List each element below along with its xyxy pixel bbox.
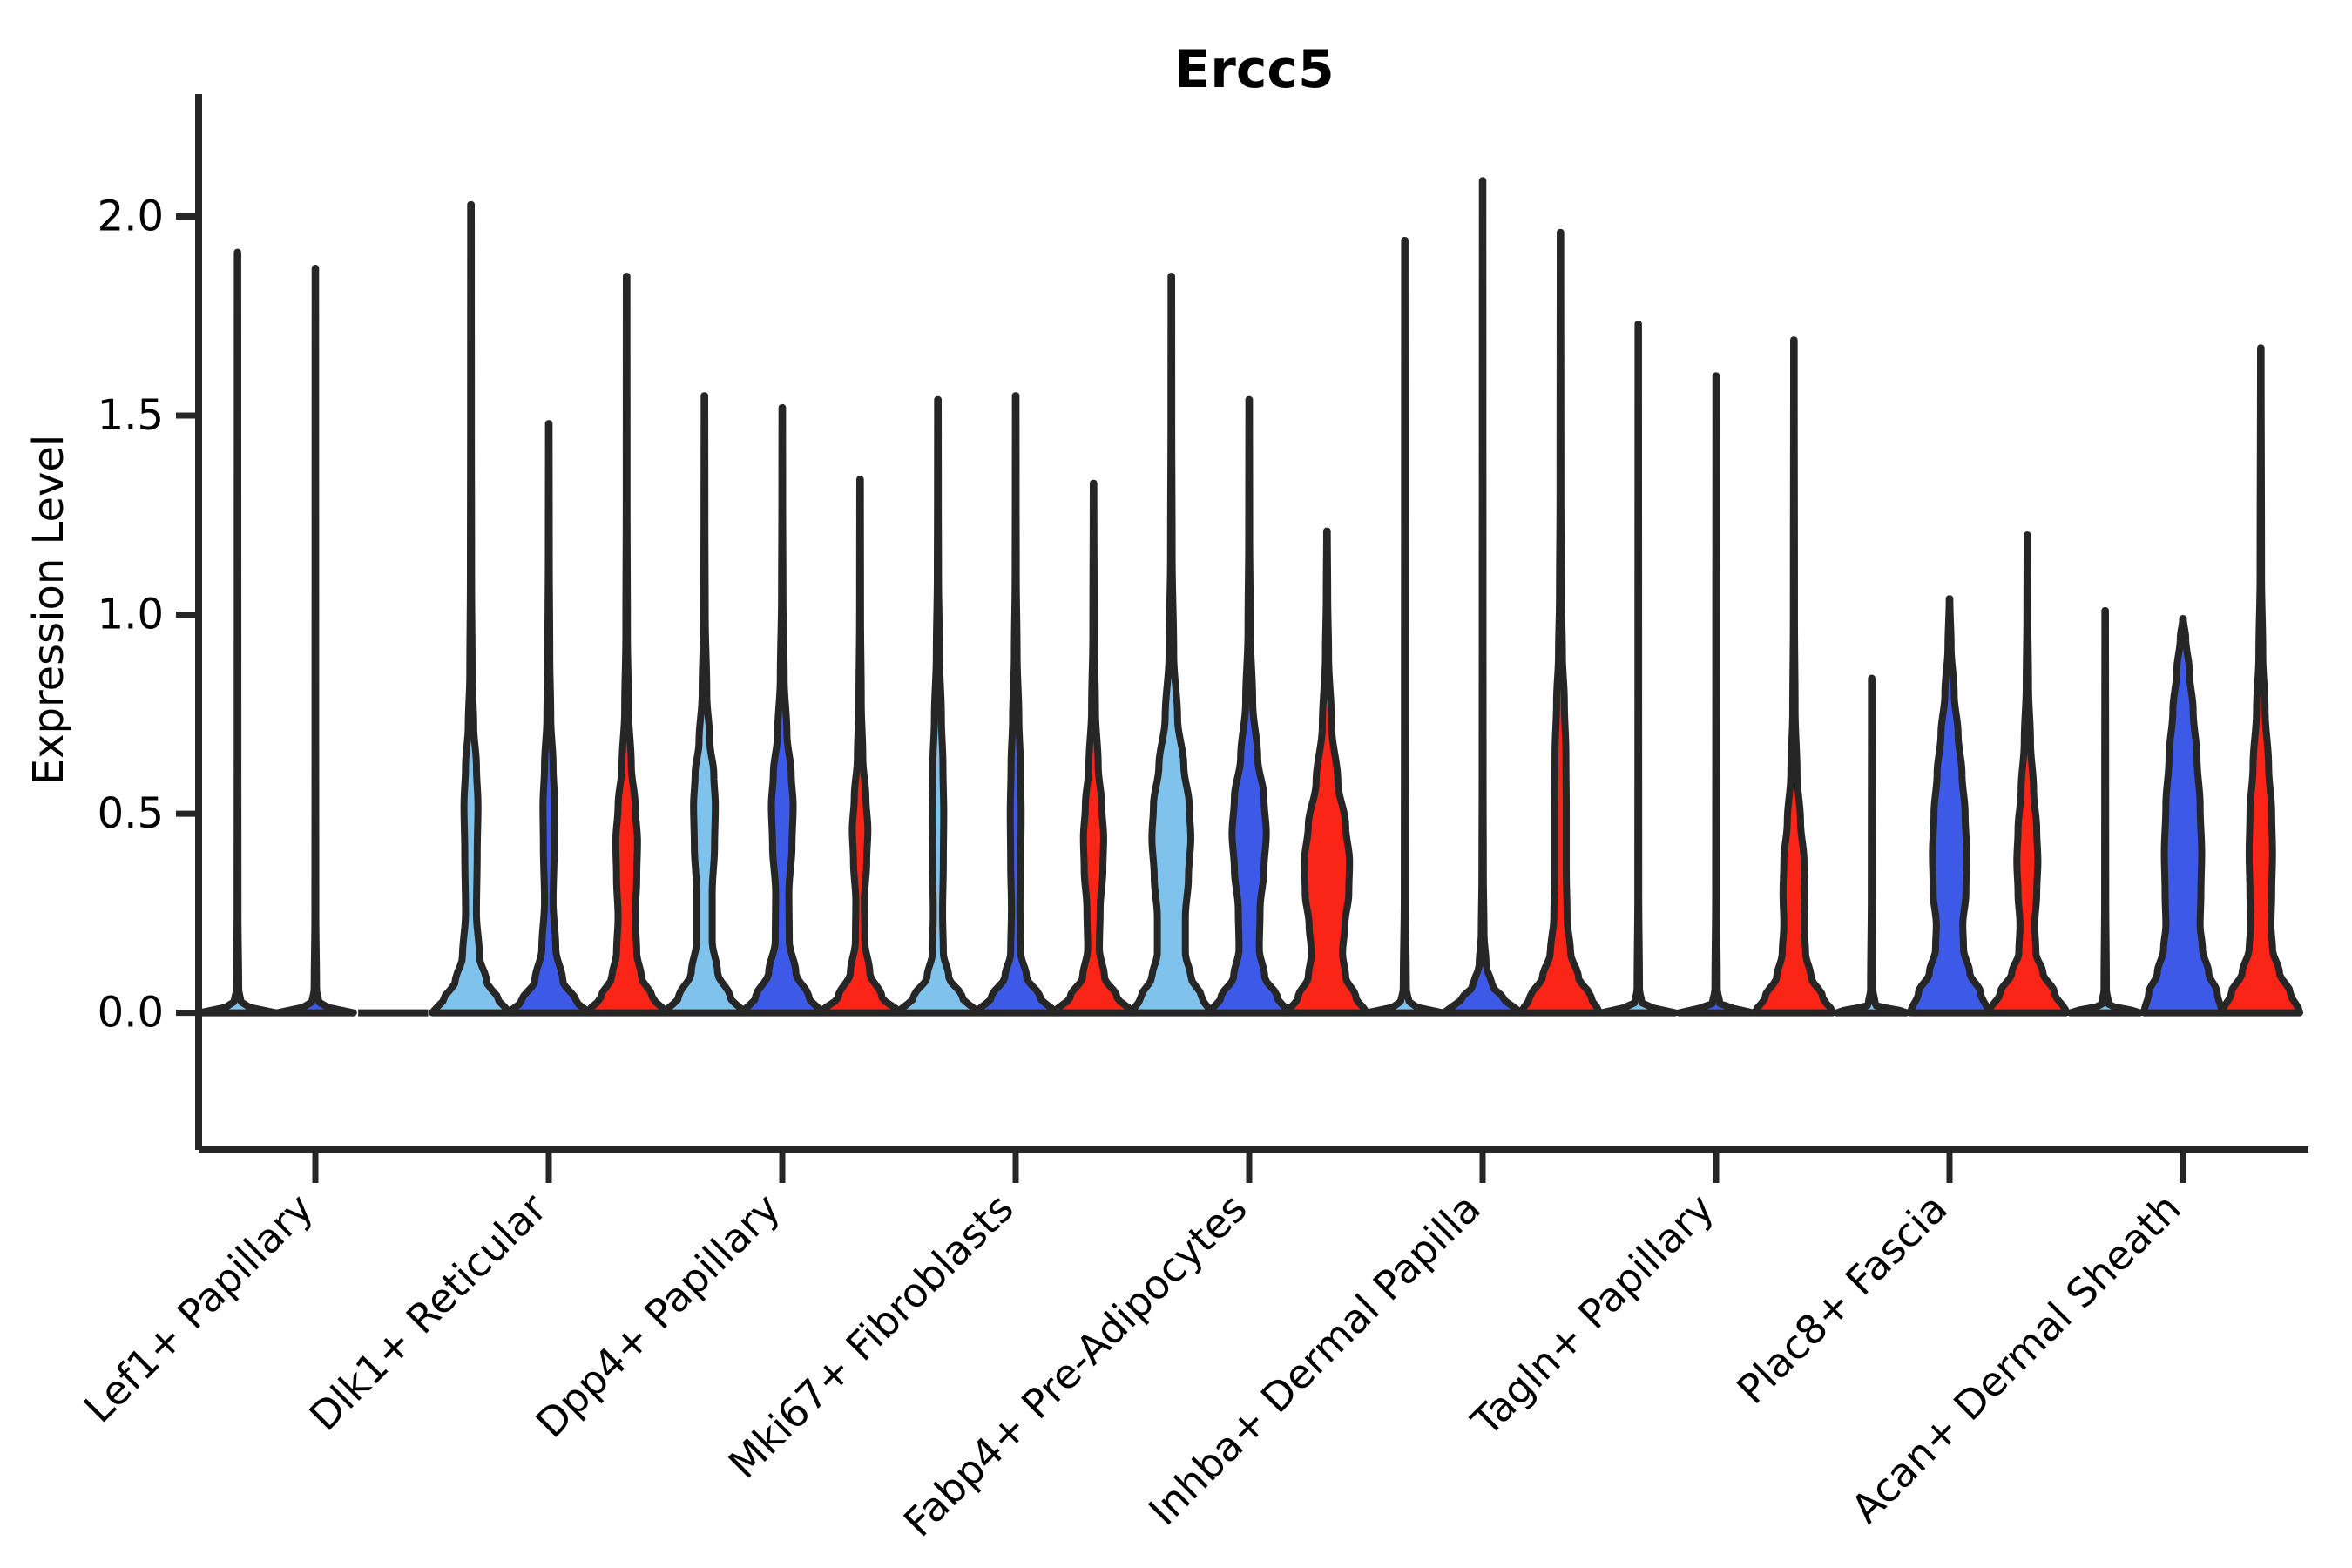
violin-plot-figure: Ercc5 Expression Level 0.00.51.01.52.0 L…	[0, 0, 2352, 1568]
y-tick-label: 1.0	[98, 591, 164, 639]
y-tick-label: 2.0	[98, 193, 164, 241]
y-tick-label: 1.5	[98, 391, 164, 440]
page-title: Ercc5	[1174, 39, 1334, 100]
y-tick-label: 0.0	[98, 989, 164, 1037]
y-tick-label: 0.5	[98, 789, 164, 838]
y-axis-label-group: Expression Level	[24, 435, 73, 786]
y-axis-label: Expression Level	[24, 435, 73, 786]
plot-svg: Ercc5 Expression Level 0.00.51.01.52.0 L…	[0, 0, 2352, 1568]
